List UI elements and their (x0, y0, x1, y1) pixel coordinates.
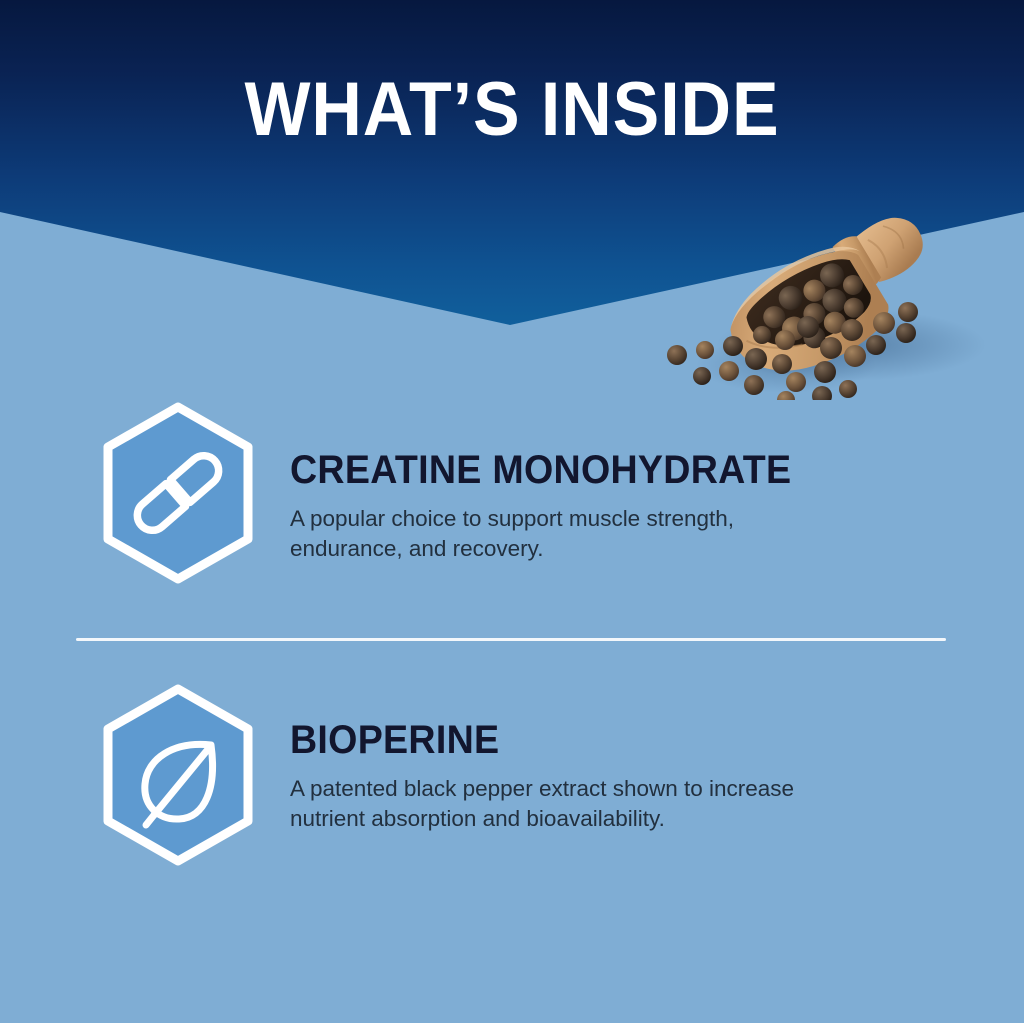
ingredient-description: A patented black pepper extract shown to… (290, 760, 910, 835)
leaf-icon (95, 682, 261, 868)
ingredient-description-line-1: A popular choice to support muscle stren… (290, 504, 910, 534)
ingredient-text-block: CREATINE MONOHYDRATE A popular choice to… (290, 400, 1024, 565)
ingredient-row-creatine-monohydrate: CREATINE MONOHYDRATE A popular choice to… (0, 400, 1024, 586)
ingredient-title: CREATINE MONOHYDRATE (290, 400, 980, 490)
ingredient-description-line-2: endurance, and recovery. (290, 534, 910, 564)
ingredient-description-line-1: A patented black pepper extract shown to… (290, 774, 910, 804)
ingredient-text-block: BIOPERINE A patented black pepper extrac… (290, 682, 1024, 835)
section-divider (76, 638, 946, 641)
ingredient-description-line-2: nutrient absorption and bioavailability. (290, 804, 910, 834)
ingredient-description: A popular choice to support muscle stren… (290, 490, 910, 565)
ingredient-title: BIOPERINE (290, 682, 980, 760)
ingredient-row-bioperine: BIOPERINE A patented black pepper extrac… (0, 682, 1024, 868)
ingredients-list: CREATINE MONOHYDRATE A popular choice to… (0, 0, 1024, 1023)
what-is-inside-infographic: WHAT’S INSIDE (0, 0, 1024, 1023)
capsule-icon (95, 400, 261, 586)
